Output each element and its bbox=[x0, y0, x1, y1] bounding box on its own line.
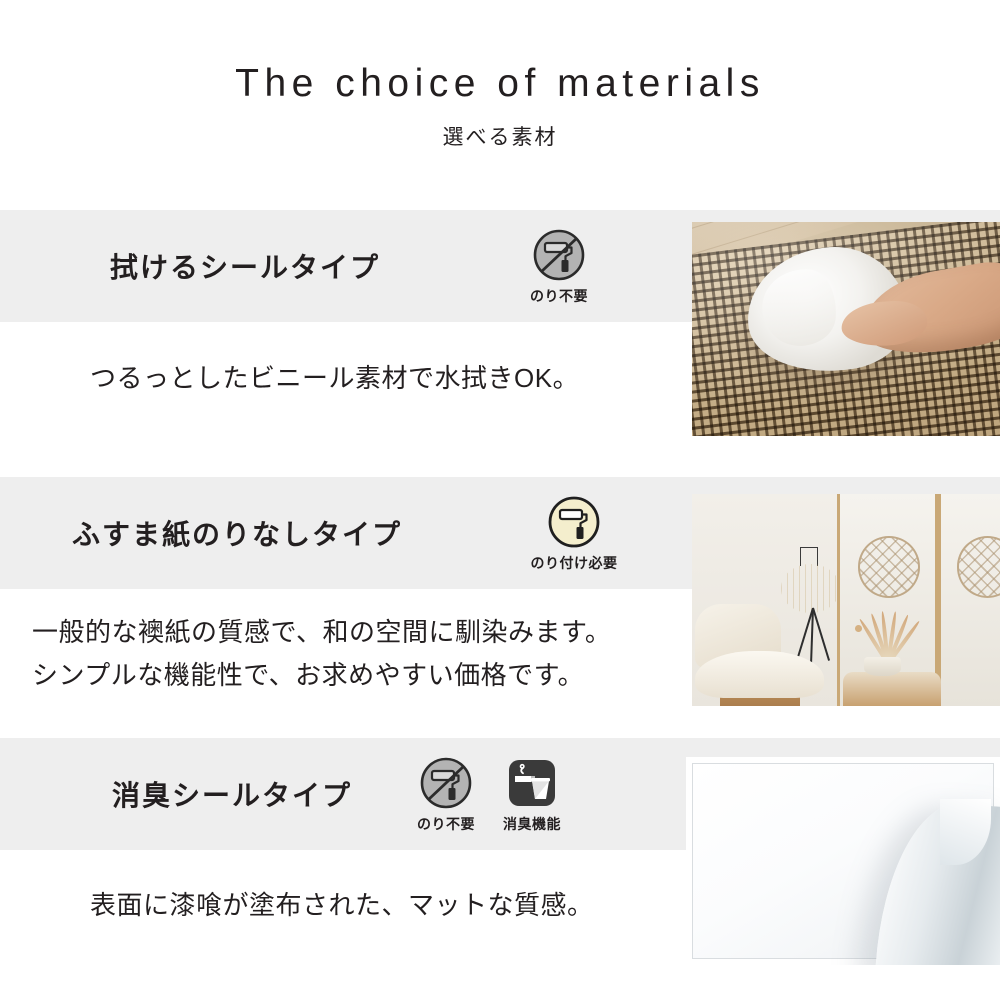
section-3-body-line-1: 表面に漆喰が塗布された、マットな質感。 bbox=[90, 885, 594, 925]
badge-deodorize-label: 消臭機能 bbox=[498, 814, 566, 834]
section-3-badges: のり不要 bbox=[412, 754, 566, 834]
paper-scene bbox=[686, 757, 1000, 965]
badge-no-glue-label: のり不要 bbox=[525, 286, 593, 306]
paper-lantern-lamp bbox=[781, 564, 840, 613]
section-1-header: 拭けるシールタイプ のり不要 bbox=[0, 210, 692, 322]
section-1-title: 拭けるシールタイプ bbox=[110, 246, 380, 286]
japanese-interior-photo bbox=[692, 494, 1000, 706]
badge-deodorize: 消臭機能 bbox=[498, 754, 566, 834]
section-1-body-line-1: つるっとしたビニール素材で水拭きOK。 bbox=[90, 358, 579, 398]
section-1-badges: のり不要 bbox=[525, 226, 593, 306]
badge-no-glue: のり不要 bbox=[525, 226, 593, 306]
section-2-body-line-1: 一般的な襖紙の質感で、和の空間に馴染みます。 bbox=[32, 612, 611, 652]
paint-roller-prohibited-icon bbox=[525, 226, 593, 284]
badge-glue-required-label: のり付け必要 bbox=[512, 553, 636, 573]
materials-choice-page: The choice of materials 選べる素材 拭けるシールタイプ bbox=[0, 0, 1000, 1000]
lattice-circle-1 bbox=[858, 536, 920, 597]
badge-no-glue: のり不要 bbox=[412, 754, 480, 834]
page-title: The choice of materials bbox=[0, 64, 1000, 103]
plant-pot bbox=[864, 657, 901, 676]
section-2-body-line-2: シンプルな機能性で、お求めやすい価格です。 bbox=[32, 655, 584, 695]
page-subtitle: 選べる素材 bbox=[0, 121, 1000, 151]
section-2-badges: のり付け必要 bbox=[512, 493, 636, 573]
section-3-header: 消臭シールタイプ のり不要 bbox=[0, 738, 692, 850]
page-header: The choice of materials 選べる素材 bbox=[0, 0, 1000, 151]
badge-glue-required: のり付け必要 bbox=[512, 493, 636, 573]
badge-no-glue-label: のり不要 bbox=[412, 814, 480, 834]
armchair-seat bbox=[695, 651, 824, 698]
interior-scene bbox=[692, 494, 1000, 706]
rattan-background bbox=[692, 222, 1000, 436]
pampas-grass bbox=[852, 611, 920, 664]
wiping-woven-surface-photo bbox=[692, 222, 1000, 436]
paint-roller-icon bbox=[512, 493, 636, 551]
white-paper-curl-photo bbox=[686, 757, 1000, 965]
section-3-title: 消臭シールタイプ bbox=[112, 774, 352, 814]
fusuma-panel-2 bbox=[938, 494, 1000, 706]
section-2-header: ふすま紙のりなしタイプ のり付け必要 bbox=[0, 477, 692, 589]
section-2-title: ふすま紙のりなしタイプ bbox=[72, 513, 402, 553]
deodorize-icon bbox=[498, 754, 566, 812]
paint-roller-prohibited-icon bbox=[412, 754, 480, 812]
wooden-side-table bbox=[843, 672, 942, 706]
